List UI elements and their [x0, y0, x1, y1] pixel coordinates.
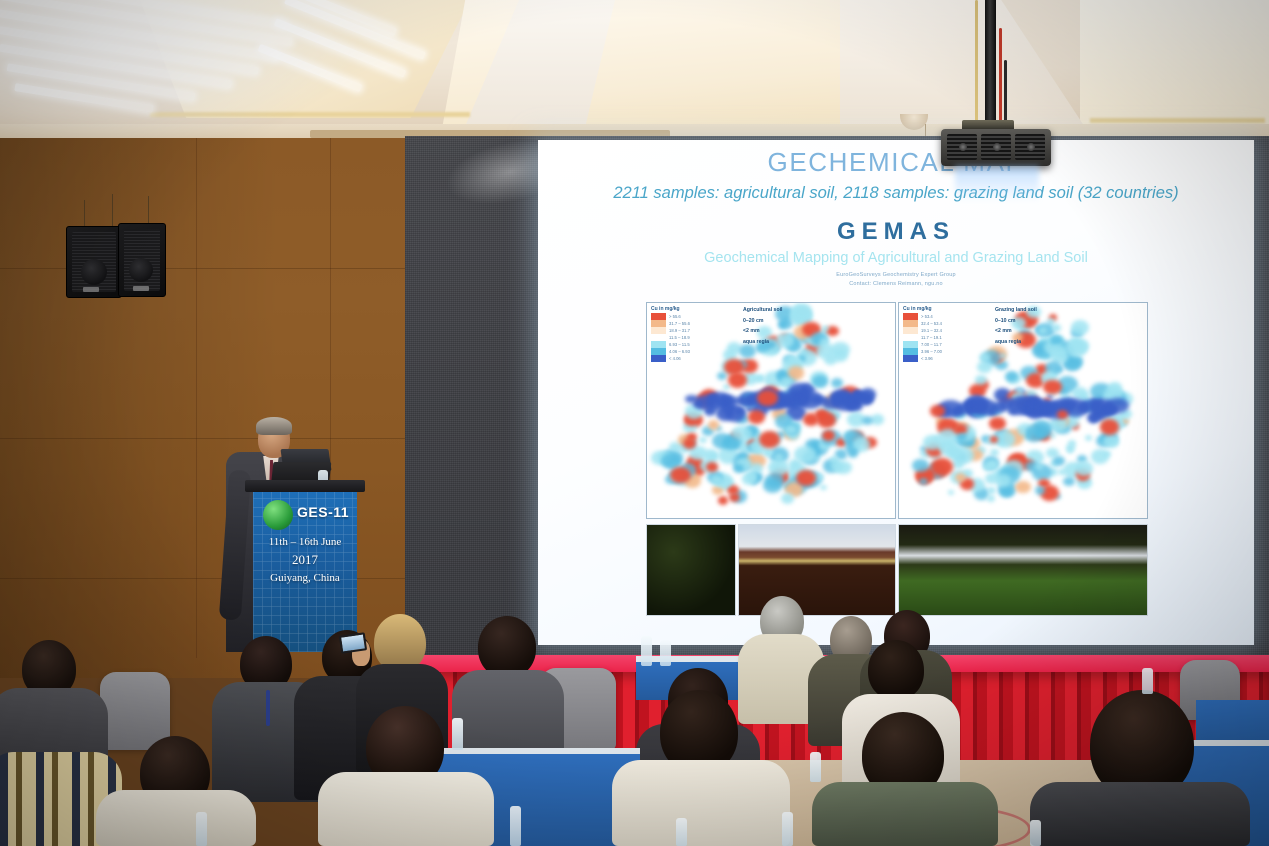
water-bottle [660, 640, 671, 666]
legend-swatch [651, 341, 666, 348]
legend-swatch [903, 348, 918, 355]
grazing-land-soil-map: Cu in mg/kg > 53.4 32.4 – 53.4 19.1 – 32… [898, 302, 1148, 519]
legend-label: 18.9 – 31.7 [669, 328, 690, 333]
presenter-hair [256, 417, 292, 435]
slide-credit-line-1: EuroGeoSurveys Geochemistry Expert Group [538, 272, 1254, 278]
legend-swatch [651, 348, 666, 355]
slide-sample-counts: 2211 samples: agricultural soil, 2118 sa… [538, 184, 1254, 203]
event-dates-label: 11th – 16th June [253, 536, 357, 548]
event-year-label: 2017 [253, 552, 357, 568]
speaker-suspension-wire [84, 200, 85, 228]
attendee-torso [318, 772, 494, 846]
wall-speaker-left [66, 226, 122, 298]
legend-swatch [651, 334, 666, 341]
map-meta-line: aqua regia [743, 339, 783, 345]
water-bottle [1030, 820, 1041, 846]
projector-light-beam [955, 166, 1039, 202]
slide-project-name: Geochemical Mapping of Agricultural and … [538, 250, 1254, 266]
ceiling-bay [140, 0, 470, 118]
wall-panel-seam [0, 268, 405, 269]
water-bottle [1142, 668, 1153, 694]
ceiling [0, 0, 1269, 150]
wall-panel-seam [0, 438, 405, 439]
map-legend: Cu in mg/kg > 53.4 32.4 – 53.4 19.1 – 32… [903, 306, 989, 362]
legend-label: 4.06 – 6.93 [669, 349, 690, 354]
legend-swatch [903, 355, 918, 362]
legend-label: 31.7 – 55.6 [669, 321, 690, 326]
legend-label: 11.7 – 19.1 [921, 335, 942, 340]
legend-label: < 3.96 [921, 356, 933, 361]
legend-swatch [903, 334, 918, 341]
map-legend: Cu in mg/kg > 55.6 31.7 – 55.6 18.9 – 31… [651, 306, 737, 362]
map-metadata: Grazing land soil 0–10 cm <2 mm aqua reg… [995, 307, 1037, 349]
water-bottle [810, 752, 821, 782]
map-meta-line: Grazing land soil [995, 307, 1037, 313]
water-bottle [782, 812, 793, 846]
legend-label: > 55.6 [669, 314, 681, 319]
wall-speaker-right [118, 223, 166, 297]
map-meta-line: 0–20 cm [743, 318, 783, 324]
attendee-torso [1030, 782, 1250, 846]
legend-label: 11.5 – 18.9 [669, 335, 690, 340]
legend-swatch [903, 327, 918, 334]
water-bottle [676, 818, 687, 846]
ceiling-bay [1080, 0, 1269, 130]
smartphone[interactable] [339, 632, 367, 653]
projection-screen: GECHEMICAL MAP 2211 samples: agricultura… [538, 140, 1254, 645]
legend-label: 7.00 – 11.7 [921, 342, 942, 347]
legend-swatch [651, 327, 666, 334]
attendee-head [868, 640, 924, 700]
cove-light [150, 112, 470, 117]
ceiling-projector [941, 129, 1051, 166]
grazing-land-photo [898, 524, 1148, 616]
lanyard [266, 690, 270, 726]
event-location-label: Guiyang, China [253, 572, 357, 584]
water-bottle [641, 636, 652, 666]
legend-label: 3.96 – 7.00 [921, 349, 942, 354]
water-bottle [510, 806, 521, 846]
map-meta-line: Agricultural soil [743, 307, 783, 313]
legend-label: < 4.06 [669, 356, 681, 361]
legend-swatch [903, 313, 918, 320]
attendee-torso [612, 760, 790, 846]
ploughed-field-photo [738, 524, 896, 616]
soil-pit-sampling-photo [646, 524, 736, 616]
speaker-suspension-wire [112, 194, 113, 228]
conference-room-photo: GECHEMICAL MAP 2211 samples: agricultura… [0, 0, 1269, 846]
slide-project-acronym: GEMAS [538, 218, 1254, 246]
legend-label: 6.93 – 11.5 [669, 342, 690, 347]
legend-swatch [903, 341, 918, 348]
agricultural-soil-map: Cu in mg/kg > 55.6 31.7 – 55.6 18.9 – 31… [646, 302, 896, 519]
projector-cable [999, 28, 1002, 132]
map-meta-line: 0–10 cm [995, 318, 1037, 324]
legend-title: Cu in mg/kg [903, 306, 989, 312]
water-bottle [196, 812, 207, 846]
attendee-torso [812, 782, 998, 846]
map-meta-line: <2 mm [995, 328, 1037, 334]
slide-title: GECHEMICAL MAP [538, 147, 1254, 178]
event-code-label: GES-11 [297, 504, 349, 520]
legend-swatch [903, 320, 918, 327]
audience-chair [100, 672, 170, 750]
slide-credit-line-2: Contact: Clemens Reimann, ngu.no [538, 281, 1254, 287]
legend-swatch [651, 313, 666, 320]
globe-logo-icon [263, 500, 293, 530]
legend-title: Cu in mg/kg [651, 306, 737, 312]
legend-label: 19.1 – 32.4 [921, 328, 942, 333]
podium-banner: GES-11 11th – 16th June 2017 Guiyang, Ch… [253, 492, 357, 652]
map-meta-line: <2 mm [743, 328, 783, 334]
wall-panel-seam [196, 138, 197, 658]
projector-cable [975, 0, 978, 132]
water-bottle [452, 718, 463, 750]
projector-mount-pole [985, 0, 996, 140]
podium-top [245, 480, 365, 492]
presentation-slide: GECHEMICAL MAP 2211 samples: agricultura… [538, 140, 1254, 645]
attendee-torso [96, 790, 256, 846]
cove-light [1090, 118, 1265, 123]
legend-swatch [651, 355, 666, 362]
legend-label: 32.4 – 53.4 [921, 321, 942, 326]
attendee-head [478, 616, 536, 678]
legend-label: > 53.4 [921, 314, 933, 319]
map-metadata: Agricultural soil 0–20 cm <2 mm aqua reg… [743, 307, 783, 349]
legend-swatch [651, 320, 666, 327]
map-meta-line: aqua regia [995, 339, 1037, 345]
podium: GES-11 11th – 16th June 2017 Guiyang, Ch… [253, 480, 357, 652]
